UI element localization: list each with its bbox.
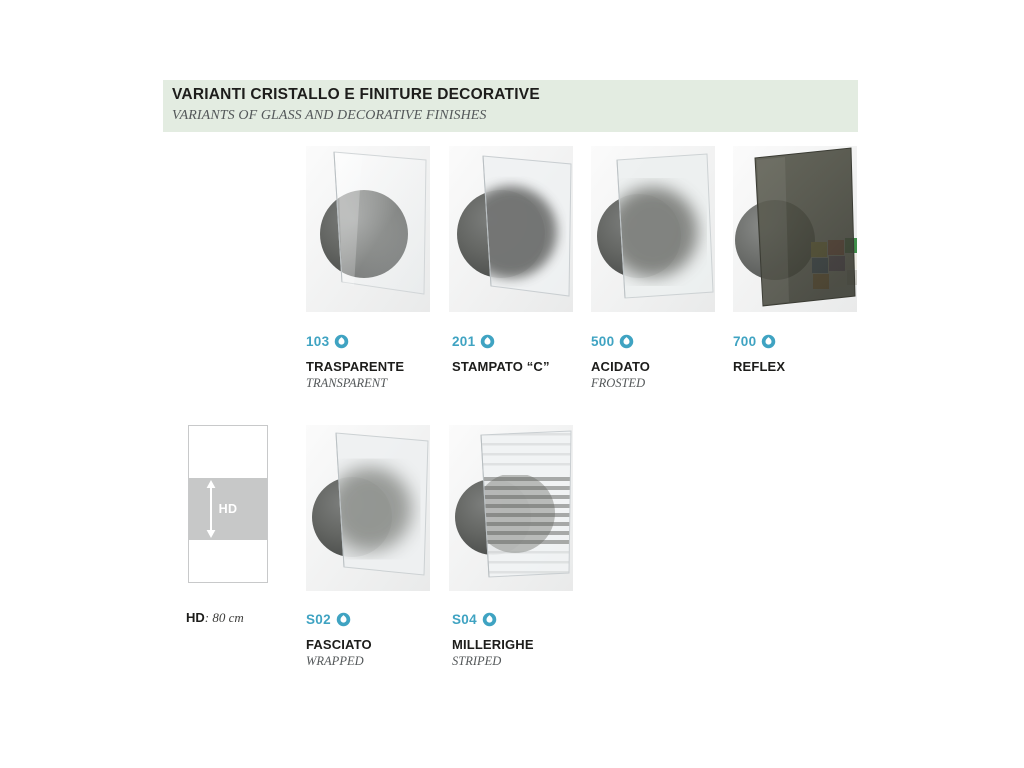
hd-diagram: HD — [188, 425, 268, 583]
reflex-glass-colorchecker-image — [733, 146, 857, 312]
code-row-s04: S04 — [452, 610, 534, 628]
page-title: VARIANTI CRISTALLO E FINITURE DECORATIVE — [172, 86, 540, 104]
striped-glass-sphere-image — [449, 425, 573, 591]
sample-tile-103[interactable] — [306, 146, 430, 312]
sample-tile-s02[interactable] — [306, 425, 430, 591]
caption-201: 201 STAMPATO “C” — [452, 332, 550, 376]
hd-caption: HD: 80 cm — [186, 610, 244, 626]
hd-caption-value: : 80 cm — [205, 610, 244, 625]
glass-drop-icon — [480, 334, 495, 349]
caption-s02: S02 FASCIATO WRAPPED — [306, 610, 372, 669]
sample-name-it: TRASPARENTE — [306, 359, 404, 374]
sample-code: 103 — [306, 334, 329, 349]
sample-name-it: ACIDATO — [591, 359, 650, 374]
code-row-500: 500 — [591, 332, 650, 350]
code-row-700: 700 — [733, 332, 785, 350]
sample-name-it: MILLERIGHE — [452, 637, 534, 652]
sample-name-en: TRANSPARENT — [306, 376, 404, 391]
sample-name-it: FASCIATO — [306, 637, 372, 652]
sample-code: S04 — [452, 612, 477, 627]
sample-tile-201[interactable] — [449, 146, 573, 312]
sample-name-it: STAMPATO “C” — [452, 359, 550, 374]
glass-drop-icon — [482, 612, 497, 627]
clear-glass-sphere-image — [306, 146, 430, 312]
sample-code: S02 — [306, 612, 331, 627]
hd-caption-key: HD — [186, 610, 205, 625]
sample-name-it: REFLEX — [733, 359, 785, 374]
caption-103: 103 TRASPARENTE TRANSPARENT — [306, 332, 404, 391]
code-row-s02: S02 — [306, 610, 372, 628]
sample-name-en: WRAPPED — [306, 654, 372, 669]
sample-tile-700[interactable] — [733, 146, 857, 312]
caption-500: 500 ACIDATO FROSTED — [591, 332, 650, 391]
glass-drop-icon — [761, 334, 776, 349]
caption-s04: S04 MILLERIGHE STRIPED — [452, 610, 534, 669]
glass-drop-icon — [336, 612, 351, 627]
sample-code: 201 — [452, 334, 475, 349]
hd-band: HD — [189, 478, 267, 540]
catalog-page: VARIANTI CRISTALLO E FINITURE DECORATIVE… — [0, 0, 1024, 768]
code-row-103: 103 — [306, 332, 404, 350]
frosted-glass-sphere-image — [591, 146, 715, 312]
sample-code: 700 — [733, 334, 756, 349]
sample-name-en: STRIPED — [452, 654, 534, 669]
wrapped-glass-sphere-image — [306, 425, 430, 591]
hd-band-label: HD — [189, 478, 267, 540]
sample-tile-500[interactable] — [591, 146, 715, 312]
sample-tile-s04[interactable] — [449, 425, 573, 591]
sample-name-en: FROSTED — [591, 376, 650, 391]
patterned-glass-sphere-image — [449, 146, 573, 312]
caption-700: 700 REFLEX — [733, 332, 785, 376]
page-subtitle: VARIANTS OF GLASS AND DECORATIVE FINISHE… — [172, 108, 487, 124]
glass-drop-icon — [619, 334, 634, 349]
code-row-201: 201 — [452, 332, 550, 350]
sample-code: 500 — [591, 334, 614, 349]
glass-drop-icon — [334, 334, 349, 349]
